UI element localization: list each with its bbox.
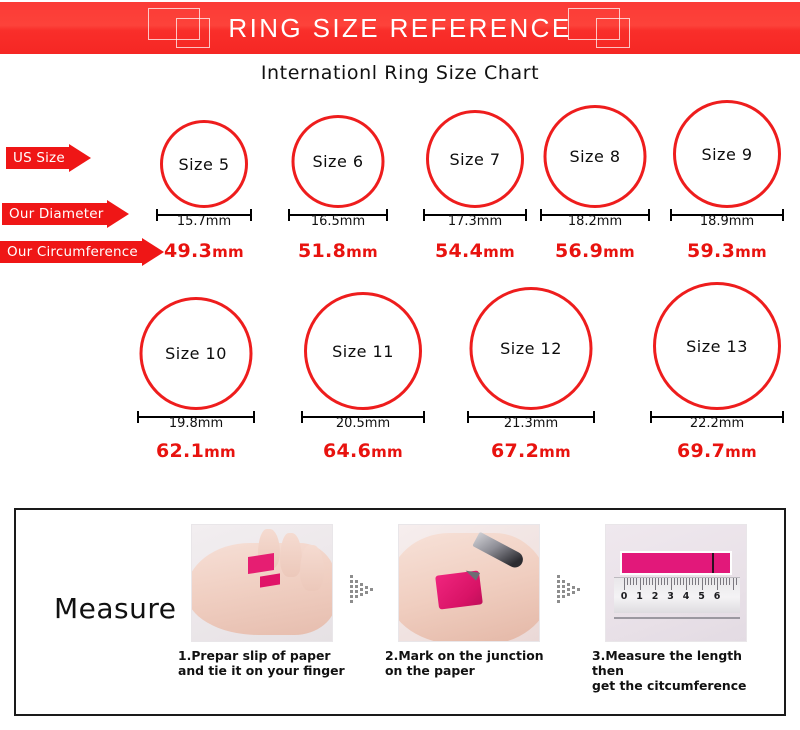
ring-size-label: Size 6 <box>312 152 363 171</box>
arrow-head-icon <box>142 238 164 266</box>
ring-circle: Size 11 <box>304 292 422 410</box>
ring-size-label: Size 11 <box>332 342 394 361</box>
circumference-value: 54.4mm <box>435 240 515 262</box>
diameter-value: 18.9mm <box>700 214 754 229</box>
circumference-value: 67.2mm <box>491 440 571 462</box>
ruler-number: 2 <box>652 591 659 602</box>
diameter-value: 18.2mm <box>568 214 622 229</box>
ring-circle: Size 9 <box>673 100 781 208</box>
circumference-value: 49.3mm <box>164 240 244 262</box>
circumference-value: 62.1mm <box>156 440 236 462</box>
ring-circle: Size 5 <box>160 120 248 208</box>
ruler-ticks <box>614 578 740 591</box>
ring-circle: Size 12 <box>470 287 593 410</box>
decorative-rectangles-right-icon <box>568 6 644 48</box>
circumference-value: 64.6mm <box>323 440 403 462</box>
step-2-image-finger-marked-with-pen <box>398 524 540 642</box>
decorative-rectangles-left-icon <box>148 6 224 48</box>
row-label-us-size: US Size <box>6 147 91 169</box>
ruler-numbers: 0123456 <box>614 591 740 605</box>
ring-circle: Size 8 <box>544 105 647 208</box>
step-1-image-hand-with-paper-strip <box>191 524 333 642</box>
circumference-value: 56.9mm <box>555 240 635 262</box>
circumference-value: 59.3mm <box>687 240 767 262</box>
diameter-value: 21.3mm <box>504 416 558 431</box>
step-separator-arrow-2-icon <box>556 572 582 606</box>
row-label-our-circumference: Our Circumference <box>0 241 164 263</box>
measure-step-2: 2.Mark on the junction on the paper <box>395 524 543 678</box>
page-title: RING SIZE REFERENCE <box>228 13 571 44</box>
ring-size-label: Size 8 <box>569 147 620 166</box>
ring-circle: Size 10 <box>140 297 253 410</box>
ruler-number: 1 <box>636 591 643 602</box>
circumference-value: 51.8mm <box>298 240 378 262</box>
step-3-caption: 3.Measure the length then get the citcum… <box>592 648 764 693</box>
row-label-us-size-text: US Size <box>13 150 65 166</box>
diameter-value: 20.5mm <box>336 416 390 431</box>
header-banner: RING SIZE REFERENCE <box>0 2 800 54</box>
ring-circle: Size 7 <box>426 110 524 208</box>
measure-heading: Measure <box>54 592 177 625</box>
row-label-our-diameter-text: Our Diameter <box>9 206 103 222</box>
ring-circle: Size 13 <box>653 282 781 410</box>
ring-size-label: Size 13 <box>686 337 748 356</box>
step-separator-arrow-1-icon <box>349 572 375 606</box>
ruler-number: 5 <box>698 591 705 602</box>
ruler-number: 3 <box>667 591 674 602</box>
measure-step-1: 1.Prepar slip of paper and tie it on you… <box>188 524 336 678</box>
ring-size-label: Size 9 <box>701 145 752 164</box>
row-label-our-diameter: Our Diameter <box>2 203 129 225</box>
ruler-number: 6 <box>714 591 721 602</box>
diameter-value: 19.8mm <box>169 416 223 431</box>
diameter-value: 16.5mm <box>311 214 365 229</box>
ring-size-label: Size 12 <box>500 339 562 358</box>
diameter-value: 17.3mm <box>448 214 502 229</box>
measure-instructions-panel: Measure 1.Prepar slip of paper and tie i… <box>14 508 786 716</box>
diameter-value: 22.2mm <box>690 416 744 431</box>
arrow-head-icon <box>69 144 91 172</box>
step-2-caption: 2.Mark on the junction on the paper <box>385 648 557 678</box>
step-3-image-ruler-measuring-strip: 0123456 <box>605 524 747 642</box>
diameter-value: 15.7mm <box>177 214 231 229</box>
ruler-number: 0 <box>621 591 628 602</box>
ring-circle: Size 6 <box>292 115 385 208</box>
deco-rect-small <box>176 18 210 48</box>
measure-step-3: 0123456 3.Measure the length then get th… <box>602 524 750 693</box>
arrow-head-icon <box>107 200 129 228</box>
ring-size-reference-page: RING SIZE REFERENCE Internationl Ring Si… <box>0 0 800 730</box>
row-label-our-circumference-text: Our Circumference <box>7 244 138 260</box>
ring-size-label: Size 5 <box>178 155 229 174</box>
ring-size-label: Size 7 <box>449 150 500 169</box>
chart-subtitle: Internationl Ring Size Chart <box>0 62 800 84</box>
ring-size-label: Size 10 <box>165 344 227 363</box>
deco-rect-small <box>596 18 630 48</box>
ruler-number: 4 <box>683 591 690 602</box>
circumference-value: 69.7mm <box>677 440 757 462</box>
step-1-caption: 1.Prepar slip of paper and tie it on you… <box>178 648 350 678</box>
